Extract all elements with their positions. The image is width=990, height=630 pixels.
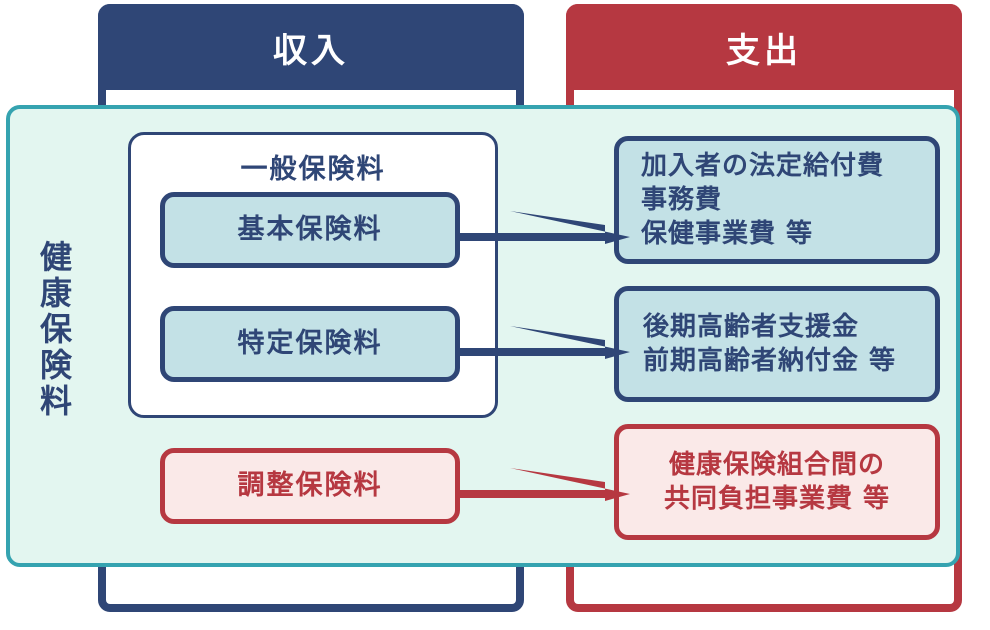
source-box-kihon-hokenryo-label: 基本保険料 bbox=[165, 212, 455, 248]
health-insurance-premium-label: 健康保険料 bbox=[24, 240, 70, 420]
destination-box-houtei-kyufuhi[interactable]: 加入者の法定給付費 事務費 保健事業費 等 bbox=[614, 136, 940, 264]
income-column-header: 収入 bbox=[98, 4, 524, 90]
destination-box-houtei-kyufuhi-label: 加入者の法定給付費 事務費 保健事業費 等 bbox=[619, 149, 935, 252]
source-box-chosei-hokenryo[interactable]: 調整保険料 bbox=[160, 448, 460, 524]
source-box-tokutei-hokenryo-label: 特定保険料 bbox=[165, 326, 455, 362]
source-box-chosei-hokenryo-label: 調整保険料 bbox=[165, 468, 455, 504]
destination-box-kourei-shienkin-label: 後期高齢者支援金 前期高齢者納付金 等 bbox=[619, 310, 935, 379]
source-box-kihon-hokenryo[interactable]: 基本保険料 bbox=[160, 192, 460, 268]
general-premium-group-title: 一般保険料 bbox=[131, 147, 495, 186]
destination-box-kumiai-kyodo-futan[interactable]: 健康保険組合間の 共同負担事業費 等 bbox=[614, 424, 940, 540]
destination-box-kourei-shienkin[interactable]: 後期高齢者支援金 前期高齢者納付金 等 bbox=[614, 286, 940, 402]
expense-column-header: 支出 bbox=[566, 4, 962, 90]
diagram-canvas: 収入 支出 健康保険料 一般保険料 基本保険料 特定保険料 調整保険料 加入者の… bbox=[0, 0, 990, 630]
source-box-tokutei-hokenryo[interactable]: 特定保険料 bbox=[160, 306, 460, 382]
destination-box-kumiai-kyodo-futan-label: 健康保険組合間の 共同負担事業費 等 bbox=[619, 448, 935, 517]
